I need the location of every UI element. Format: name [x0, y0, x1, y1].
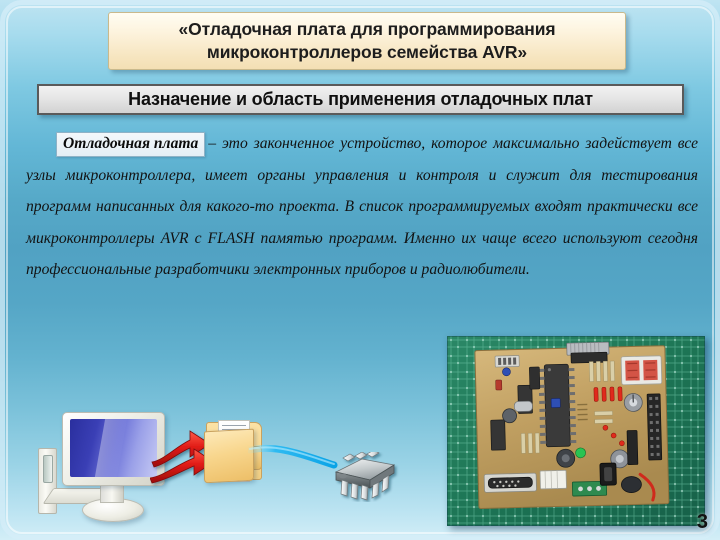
tower-drive-slot-icon — [43, 455, 53, 483]
avr-debug-board-photo — [447, 336, 705, 526]
section-header-text: Назначение и область применения отладочн… — [128, 89, 593, 110]
monitor-neck-icon — [100, 484, 124, 503]
screen-gloss-icon — [95, 419, 127, 477]
slide-title-text: «Отладочная плата для программирования м… — [109, 18, 625, 64]
presentation-slide: «Отладочная плата для программирования м… — [0, 0, 720, 540]
microcontroller-chip-icon — [328, 452, 404, 502]
slide-number: 3 — [697, 511, 708, 534]
section-header-bar: Назначение и область применения отладочн… — [37, 84, 684, 115]
folder-front-icon — [204, 429, 254, 484]
board-photo-svg — [447, 336, 705, 526]
body-paragraph: Отладочная плата– это законченное устрой… — [26, 128, 698, 286]
highlighted-term: Отладочная плата — [56, 132, 205, 157]
slide-title-box: «Отладочная плата для программирования м… — [108, 12, 626, 70]
computer-tower-icon — [38, 448, 57, 514]
dip-chip-svg — [328, 452, 404, 502]
monitor-screen-icon — [70, 419, 157, 477]
